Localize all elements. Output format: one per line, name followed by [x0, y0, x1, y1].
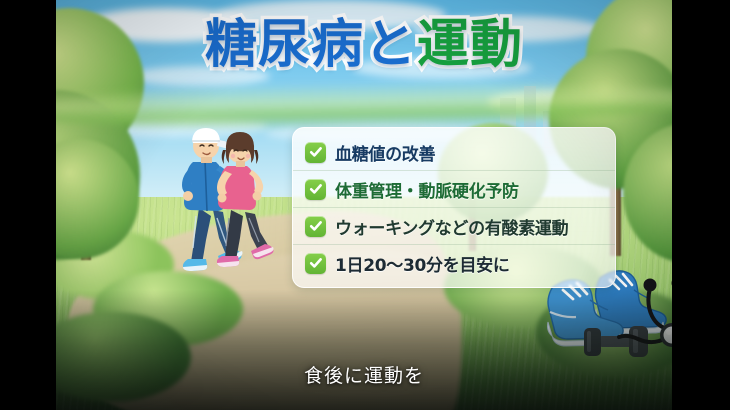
check-icon: [305, 216, 326, 237]
list-item: ウォーキングなどの有酸素運動: [293, 208, 615, 245]
two-walkers-illustration: [161, 112, 291, 282]
list-item: 体重管理・動脈硬化予防: [293, 171, 615, 208]
park-path-background: 糖尿病と運動 血糖値の改善 体重管理・動脈硬化予防: [56, 0, 672, 410]
check-icon: [305, 253, 326, 274]
benefits-panel: 血糖値の改善 体重管理・動脈硬化予防 ウォーキングなどの有酸素運動: [292, 127, 616, 288]
letterbox-right: [672, 0, 730, 410]
caption-text: 食後に運動を: [56, 361, 672, 388]
list-item-label: 体重管理・動脈硬化予防: [335, 177, 519, 202]
cloud: [216, 0, 446, 30]
list-item-label: 1日20〜30分を目安に: [335, 251, 510, 276]
check-icon: [305, 142, 326, 163]
check-icon: [305, 179, 326, 200]
list-item-label: ウォーキングなどの有酸素運動: [335, 214, 568, 239]
list-item: 血糖値の改善: [293, 134, 615, 171]
list-item: 1日20〜30分を目安に: [293, 245, 615, 281]
letterbox-left: [0, 0, 56, 410]
cloud: [130, 66, 270, 86]
list-item-label: 血糖値の改善: [335, 140, 435, 165]
video-frame: 糖尿病と運動 血糖値の改善 体重管理・動脈硬化予防: [0, 0, 730, 410]
